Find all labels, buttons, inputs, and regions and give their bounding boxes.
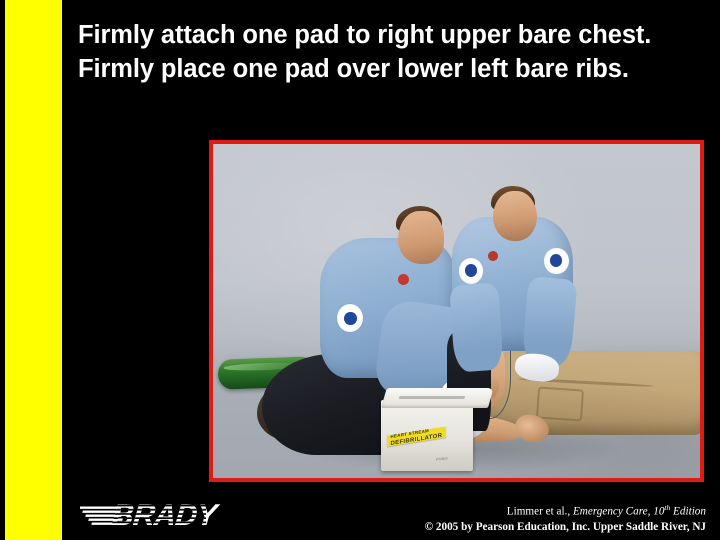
star-of-life-patch-left-icon <box>459 258 483 284</box>
emt-standing-badge-icon <box>488 251 498 261</box>
attribution-copyright: © 2005 by Pearson Education, Inc. Upper … <box>276 520 706 535</box>
defibrillator-case: HEART STREAM DEFIBRILLATOR Philips <box>381 388 488 472</box>
defibrillator-lid <box>381 388 494 408</box>
attribution-citation: Limmer et al., Emergency Care, 10th Edit… <box>276 501 706 519</box>
emt-standing-head <box>493 191 537 241</box>
attribution-edition-word: Edition <box>670 506 706 518</box>
attribution-book-title: Emergency Care, <box>573 506 650 518</box>
page-title: Firmly attach one pad to right upper bar… <box>78 18 702 86</box>
emt-kneeling-head <box>398 211 444 264</box>
slide-canvas: Firmly attach one pad to right upper bar… <box>0 0 720 540</box>
brady-logo: BRADY BRADY <box>80 498 252 532</box>
photo-frame: HEART STREAM DEFIBRILLATOR Philips <box>209 140 704 482</box>
defibrillator-body: HEART STREAM DEFIBRILLATOR Philips <box>381 400 473 472</box>
attribution-edition-number: 10 <box>650 506 664 518</box>
star-of-life-patch-right-icon <box>544 248 568 274</box>
defibrillator-brand: Philips <box>436 455 448 462</box>
attribution: Limmer et al., Emergency Care, 10th Edit… <box>276 501 706 534</box>
attribution-authors: Limmer et al., <box>507 506 573 518</box>
emt-standing-left-sleeve <box>449 283 504 373</box>
emt-kneeling-badge-icon <box>398 274 409 285</box>
instructional-photo: HEART STREAM DEFIBRILLATOR Philips <box>213 144 700 478</box>
accent-bar <box>5 0 62 540</box>
defibrillator-lid-slot <box>399 396 466 399</box>
trouser-pocket <box>536 386 584 422</box>
defibrillator-label: HEART STREAM DEFIBRILLATOR <box>387 426 446 446</box>
